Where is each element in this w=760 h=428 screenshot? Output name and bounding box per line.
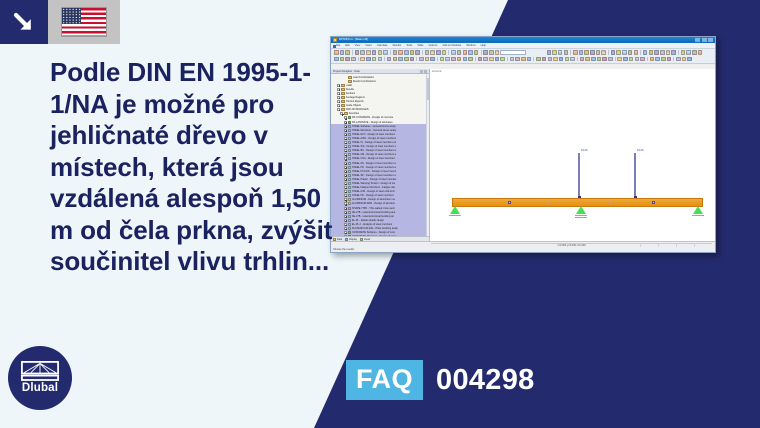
- toolbar-button[interactable]: [478, 57, 483, 62]
- toolbar-button[interactable]: [654, 50, 659, 55]
- toolbar-button[interactable]: [681, 50, 686, 55]
- toolbar-button[interactable]: [596, 50, 601, 55]
- tree-item-label: SHAPE-THIN - Thin-walled cross-secti: [352, 207, 395, 210]
- tree-item-label: FE-LTB - Lateral-torsional buckling ana: [352, 211, 395, 214]
- tree-item-label: STEEL EC3 - Design of steel members: [352, 133, 395, 136]
- toolbar-separator: [358, 57, 359, 62]
- toolbar-button[interactable]: [398, 57, 403, 62]
- rstab-application-window[interactable]: RSTAB 8.xx - [Beam.rs8] FileEditViewInse…: [330, 36, 716, 253]
- tree-item-label: Favorites: [349, 112, 359, 115]
- window-title: RSTAB 8.xx - [Beam.rs8]: [339, 37, 368, 43]
- toolbar-button[interactable]: [573, 50, 578, 55]
- tree-item-label: STEEL SIA - Design of steel members a: [352, 145, 396, 148]
- toolbar-separator: [352, 50, 353, 55]
- toolbar-button[interactable]: [393, 57, 398, 62]
- toolbar-button[interactable]: [676, 57, 681, 62]
- node-marker-1[interactable]: [508, 201, 511, 204]
- support-right[interactable]: [691, 206, 704, 219]
- arrow-down-right-icon: [0, 0, 48, 44]
- menu-item-add-on-modules[interactable]: Add-on Modules: [442, 43, 461, 49]
- dlubal-frame-icon: [21, 361, 59, 381]
- toolbar-button[interactable]: [393, 50, 398, 55]
- toolbar-button[interactable]: [495, 50, 500, 55]
- app-body: Project Navigator - Data Load Combinatio…: [331, 69, 715, 241]
- page-title: Podle DIN EN 1995-1-1/NA je možné pro je…: [50, 57, 350, 278]
- status-cell-snap[interactable]: [640, 243, 658, 247]
- toolbar-button[interactable]: [565, 57, 570, 62]
- node-marker-3[interactable]: [610, 202, 611, 203]
- toolbar-button[interactable]: [601, 50, 606, 55]
- tree-item-label: PLATE-BUCKLING - Plate buckling analy: [352, 227, 398, 230]
- toolbar-button[interactable]: [340, 50, 345, 55]
- toolbar-button[interactable]: [500, 57, 505, 62]
- tree-item-label: Result Combinations: [353, 80, 376, 83]
- toolbar-separator: [615, 57, 616, 62]
- toolbar-button[interactable]: [622, 50, 627, 55]
- toolbar-button[interactable]: [463, 50, 468, 55]
- tree-item-label: STEEL SP - Design of steel members a: [352, 174, 396, 177]
- load-label-1: 10.00: [581, 149, 588, 152]
- toolbar-button[interactable]: [558, 50, 563, 55]
- toolbar-button[interactable]: [334, 50, 339, 55]
- toolbar-separator: [390, 50, 391, 55]
- toolbar-button[interactable]: [510, 57, 515, 62]
- support-triangle: [576, 206, 586, 214]
- toolbar-button[interactable]: [666, 50, 671, 55]
- toolbar-button[interactable]: [372, 50, 377, 55]
- toolbar-button[interactable]: [661, 57, 666, 62]
- toolbar-button[interactable]: [547, 50, 552, 55]
- tree-item-label: STEEL HK - Design of steel members: [352, 194, 394, 197]
- toolbar-separator: [481, 50, 482, 55]
- toolbar-button[interactable]: [483, 57, 488, 62]
- navigator-pin-icon[interactable]: [420, 70, 423, 73]
- toolbar-button[interactable]: [436, 50, 441, 55]
- toolbar-button[interactable]: [468, 50, 473, 55]
- load-label-2: 10.00: [637, 149, 644, 152]
- toolbar-button[interactable]: [553, 57, 558, 62]
- point-load-arrow-1: [578, 153, 580, 199]
- toolbar-button[interactable]: [355, 50, 360, 55]
- faq-banner: Podle DIN EN 1995-1-1/NA je možné pro je…: [0, 0, 760, 428]
- flag-stars: [62, 8, 81, 24]
- toolbar-button[interactable]: [345, 50, 350, 55]
- toolbar-separator: [533, 57, 534, 62]
- tree-item-label: RF-LAMINATE - Design of laminates: [352, 121, 393, 124]
- toolbar-button[interactable]: [686, 50, 691, 55]
- toolbar-button[interactable]: [542, 57, 547, 62]
- toolbar-button[interactable]: [640, 57, 645, 62]
- navigator-scrollbar[interactable]: [426, 74, 429, 236]
- toolbar-button[interactable]: [591, 57, 596, 62]
- support-triangle: [693, 206, 703, 214]
- faq-badge: FAQ: [346, 360, 423, 400]
- view-label: isometric: [432, 70, 442, 73]
- toolbar-button[interactable]: [660, 50, 665, 55]
- toolbar-separator: [384, 57, 385, 62]
- toolbar-separator: [640, 50, 641, 55]
- toolbar-button[interactable]: [629, 57, 634, 62]
- faq-reference: FAQ 004298: [346, 360, 535, 400]
- tree-item-label: EL-PL 2 - Analysis of steel members: [352, 223, 392, 226]
- support-triangle: [450, 206, 460, 214]
- toolbar-button[interactable]: [597, 57, 602, 62]
- tree-item-label: STEEL CSA - Design of steel members: [352, 157, 395, 160]
- toolbar-button[interactable]: [468, 57, 473, 62]
- toolbar-button[interactable]: [360, 57, 365, 62]
- menu-item-insert[interactable]: Insert: [365, 43, 372, 49]
- toolbar-button[interactable]: [410, 50, 415, 55]
- toolbar-button[interactable]: [616, 50, 621, 55]
- tree-item-label: STEEL Warping Torsion - Design of ste: [352, 182, 395, 185]
- tree-item-label: STEEL AISI - Design of steel cold-form: [352, 190, 395, 193]
- toolbar-button[interactable]: [378, 50, 383, 55]
- toolbar-button[interactable]: [559, 57, 564, 62]
- status-cell-ortho[interactable]: [694, 243, 712, 247]
- toolbar-button[interactable]: [410, 57, 415, 62]
- toolbar-button[interactable]: [628, 50, 633, 55]
- tree-item-label: STEEL Members - General stress analy: [352, 129, 396, 132]
- toolbar-button[interactable]: [579, 50, 584, 55]
- scrollbar-thumb[interactable]: [427, 78, 429, 100]
- tree-item-label: STEEL Surfaces - General stress analy: [352, 125, 396, 128]
- toolbar-button[interactable]: [692, 50, 697, 55]
- toolbar-button[interactable]: [457, 50, 462, 55]
- us-flag-graphic: [61, 7, 107, 37]
- tree-item-label: ALUMINIUM - Design of aluminium me: [352, 198, 395, 201]
- toolbar-button[interactable]: [580, 57, 585, 62]
- tree-item-label: CONCRETE Surfaces - Design of conc: [352, 231, 395, 234]
- flag-canton: [62, 8, 81, 24]
- toolbar-button[interactable]: [372, 57, 377, 62]
- close-button[interactable]: [708, 38, 713, 42]
- model-canvas[interactable]: isometric 10.00 10.00: [430, 69, 715, 241]
- tree-item-label: STEEL Plastic - Design of steel member: [352, 178, 397, 181]
- toolbar-button[interactable]: [360, 50, 365, 55]
- tree-item-label: STEEL HK - Design of steel members a: [352, 166, 396, 169]
- toolbar-button[interactable]: [366, 57, 371, 62]
- toolbar-button[interactable]: [457, 57, 462, 62]
- toolbar-button[interactable]: [584, 50, 589, 55]
- toolbar-separator: [608, 50, 609, 55]
- tree-item-label: CONCRETE Members - Design of conc: [352, 235, 396, 236]
- navigator-close-icon[interactable]: [424, 70, 427, 73]
- toolbar-separator: [570, 50, 571, 55]
- toolbar-button[interactable]: [617, 57, 622, 62]
- tree-item-label: STEEL NTC-DF - Design of steel memb: [352, 170, 396, 173]
- toolbar-button[interactable]: [387, 57, 392, 62]
- toolbar-button[interactable]: [527, 57, 532, 62]
- toolbar-button[interactable]: [623, 57, 628, 62]
- toolbar-button[interactable]: [590, 50, 595, 55]
- support-middle[interactable]: [574, 206, 587, 219]
- tree-item-label: ALUMINIUM ADM - Design of aluminiu: [352, 202, 395, 205]
- toolbar-button[interactable]: [419, 57, 424, 62]
- point-load-arrow-2: [634, 153, 636, 199]
- menu-item-tools[interactable]: Tools: [406, 43, 412, 49]
- menu-item-file[interactable]: File: [336, 43, 340, 49]
- node-marker-4[interactable]: [652, 201, 655, 204]
- toolbar-row-2[interactable]: [334, 56, 715, 62]
- toolbar-button[interactable]: [564, 50, 569, 55]
- toolbar-button[interactable]: [548, 57, 553, 62]
- toolbar-button[interactable]: [463, 57, 468, 62]
- toolbar-button[interactable]: [611, 50, 616, 55]
- toolbar-separator: [422, 50, 423, 55]
- toolbar-button[interactable]: [442, 50, 447, 55]
- support-base-bar-2: [575, 217, 587, 218]
- status-cell-grid[interactable]: [658, 243, 676, 247]
- node-marker-2[interactable]: [548, 202, 549, 203]
- toolbar-separator: [673, 57, 674, 62]
- dlubal-wordmark: Dlubal: [22, 382, 58, 394]
- toolbar-button[interactable]: [687, 57, 692, 62]
- toolbar-separator: [647, 57, 648, 62]
- toolbar-area[interactable]: [331, 49, 715, 64]
- us-flag-icon: [48, 0, 120, 44]
- toolbar-separator: [507, 57, 508, 62]
- toolbar-button[interactable]: [643, 50, 648, 55]
- status-cell-osnap[interactable]: [676, 243, 694, 247]
- toolbar-button[interactable]: [415, 50, 420, 55]
- document-icon: [333, 45, 337, 49]
- toolbar-combobox[interactable]: [500, 50, 526, 55]
- toolbar-button[interactable]: [440, 57, 445, 62]
- toolbar-button[interactable]: [521, 57, 526, 62]
- toolbar-button[interactable]: [378, 57, 383, 62]
- status-bar: x=0.000 y=0.000 z=0.000 Choose the resul…: [331, 241, 715, 252]
- tree-item-label: STEEL AISC - Design of steel members: [352, 137, 396, 140]
- tree-item-label: RF-CONCRETE - Design of concrete: [352, 116, 393, 119]
- toolbar-button[interactable]: [552, 50, 557, 55]
- toolbar-button[interactable]: [698, 50, 703, 55]
- toolbar-button[interactable]: [383, 50, 388, 55]
- toolbar-button[interactable]: [451, 57, 456, 62]
- toolbar-separator: [437, 57, 438, 62]
- menu-item-edit[interactable]: Edit: [345, 43, 349, 49]
- toolbar-button[interactable]: [351, 57, 356, 62]
- toolbar-button[interactable]: [570, 57, 575, 62]
- support-base-bar: [575, 215, 587, 216]
- support-base-bar: [692, 215, 704, 216]
- navigator-header-buttons[interactable]: [420, 70, 427, 73]
- support-left[interactable]: [448, 206, 461, 219]
- toolbar-button[interactable]: [404, 50, 409, 55]
- toolbar-button[interactable]: [445, 57, 450, 62]
- menu-item-results[interactable]: Results: [393, 43, 402, 49]
- toolbar-separator: [448, 50, 449, 55]
- toolbar-button[interactable]: [667, 57, 672, 62]
- minimize-button[interactable]: [695, 38, 700, 42]
- menu-item-options[interactable]: Options: [429, 43, 438, 49]
- toolbar-button[interactable]: [602, 57, 607, 62]
- toolbar-button[interactable]: [671, 50, 676, 55]
- toolbar-button[interactable]: [430, 57, 435, 62]
- toolbar-button[interactable]: [425, 50, 430, 55]
- toolbar-separator: [678, 50, 679, 55]
- toolbar-button[interactable]: [483, 50, 488, 55]
- tree-item-label: Load Combinations: [353, 76, 375, 79]
- tree-item-label: STEEL AS - Design of steel members a: [352, 162, 396, 165]
- toolbar-button[interactable]: [398, 50, 403, 55]
- toolbar-button[interactable]: [650, 57, 655, 62]
- toolbar-button[interactable]: [649, 50, 654, 55]
- status-toggle-cells[interactable]: [640, 243, 712, 247]
- toolbar-button[interactable]: [489, 57, 494, 62]
- toolbar-button[interactable]: [474, 50, 479, 55]
- dlubal-logo: Dlubal: [8, 346, 72, 410]
- toolbar-button[interactable]: [585, 57, 590, 62]
- toolbar-button[interactable]: [366, 50, 371, 55]
- faq-number: 004298: [436, 366, 535, 395]
- toolbar-button[interactable]: [682, 57, 687, 62]
- menu-item-calculate[interactable]: Calculate: [377, 43, 388, 49]
- menu-item-help[interactable]: Help: [481, 43, 486, 49]
- menu-item-view[interactable]: View: [355, 43, 361, 49]
- toolbar-button[interactable]: [634, 50, 639, 55]
- menu-item-table[interactable]: Table: [417, 43, 423, 49]
- toolbar-button[interactable]: [536, 57, 541, 62]
- toolbar-button[interactable]: [489, 50, 494, 55]
- tree-item-label: EL-PL - Elastic-plastic design: [352, 219, 384, 222]
- toolbar-button[interactable]: [451, 50, 456, 55]
- toolbar-separator: [416, 57, 417, 62]
- app-icon: [333, 38, 337, 42]
- tree-item-label: STEEL GB - Design of steel members a: [352, 153, 396, 156]
- toolbar-button[interactable]: [515, 57, 520, 62]
- maximize-button[interactable]: [702, 38, 707, 42]
- toolbar-button[interactable]: [655, 57, 660, 62]
- tree-item-label: STEEL IS - Design of steel members ac: [352, 141, 396, 144]
- menu-item-window[interactable]: Window: [466, 43, 475, 49]
- support-base-bar: [449, 215, 461, 216]
- toolbar-separator: [577, 57, 578, 62]
- toolbar-button[interactable]: [608, 57, 613, 62]
- tree-item-label: FE-LTB - Lateral-torsional buckling an: [352, 215, 394, 218]
- tree-item-label: STEEL BS - Design of steel members a: [352, 149, 396, 152]
- toolbar-button[interactable]: [430, 50, 435, 55]
- toolbar-separator: [475, 57, 476, 62]
- tree-item-label: STEEL Fatigue Members - Fatigue des: [352, 186, 395, 189]
- toolbar-button[interactable]: [425, 57, 430, 62]
- window-controls[interactable]: [695, 38, 713, 42]
- toolbar-button[interactable]: [635, 57, 640, 62]
- toolbar-button[interactable]: [495, 57, 500, 62]
- toolbar-button[interactable]: [404, 57, 409, 62]
